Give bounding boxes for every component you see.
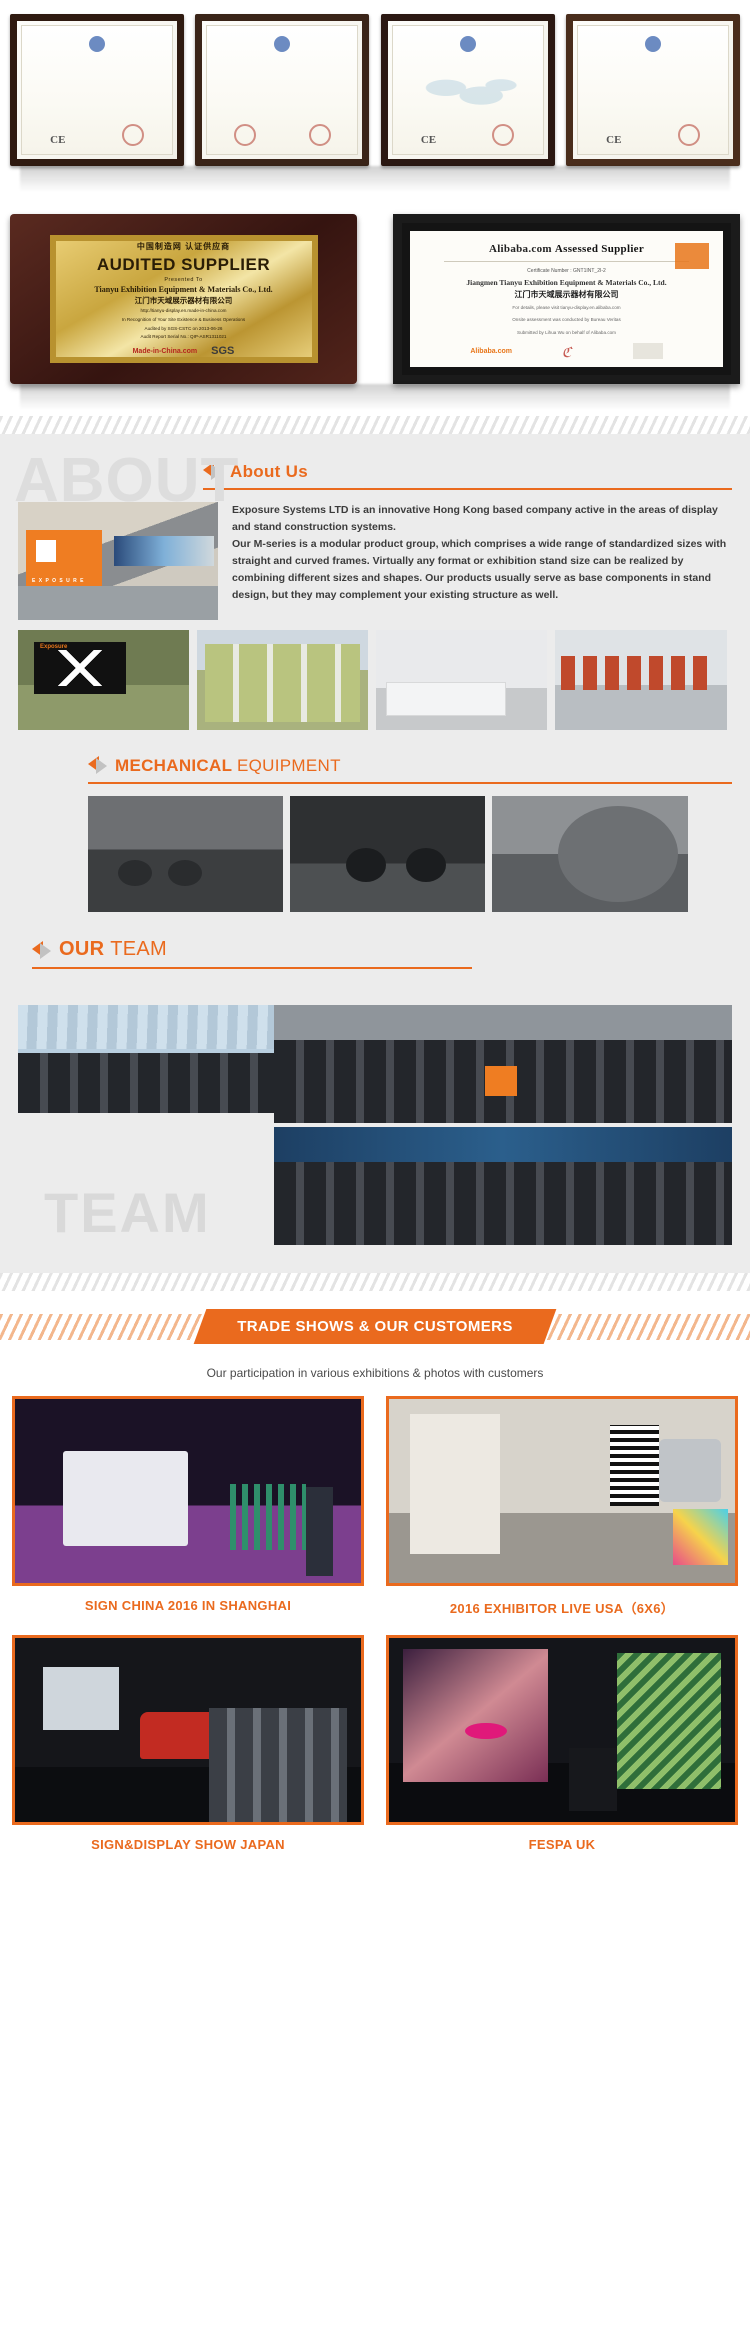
seal-icon bbox=[89, 36, 105, 52]
supplier-assessment-certificate bbox=[195, 14, 369, 166]
alibaba-logo: Alibaba.com bbox=[470, 348, 512, 355]
iso-certificate-2: CE bbox=[381, 14, 555, 166]
cnc-machine-photo-2 bbox=[290, 796, 485, 912]
plaque-title: AUDITED SUPPLIER bbox=[97, 255, 270, 275]
team-group-booth-photo bbox=[274, 1005, 732, 1123]
show-caption: SIGN&DISPLAY SHOW JAPAN bbox=[12, 1825, 364, 1856]
show-exhibitor-live-usa: 2016 EXHIBITOR LIVE USA（6X6） bbox=[386, 1396, 738, 1621]
plaque-company-en: Tianyu Exhibition Equipment & Materials … bbox=[94, 285, 272, 294]
team-right-column bbox=[274, 1005, 732, 1245]
mechanical-heading-bold: MECHANICAL bbox=[115, 756, 232, 775]
team-heading-rule bbox=[32, 967, 472, 969]
team-ghost-text: TEAM bbox=[44, 1180, 211, 1245]
exterior-banner-photo: Exposure bbox=[18, 630, 189, 730]
triangle-left-gray-icon bbox=[96, 758, 107, 774]
alibaba-submitted-line: Submitted by Lihua Wu on behalf of Aliba… bbox=[517, 329, 616, 337]
trade-shows-subtitle: Our participation in various exhibitions… bbox=[0, 1366, 750, 1380]
about-text-block: Exposure Systems LTD is an innovative Ho… bbox=[232, 502, 732, 620]
mechanical-heading: MECHANICAL EQUIPMENT bbox=[88, 730, 732, 776]
conference-room-photo bbox=[555, 630, 727, 730]
stamp-icon bbox=[309, 124, 331, 146]
mechanical-heading-rule bbox=[88, 782, 732, 784]
triangle-left-gray-icon bbox=[40, 943, 51, 959]
stamp-icon bbox=[122, 124, 144, 146]
plaque-chinese-top: 中国制造网 认证供应商 bbox=[137, 241, 230, 252]
certificate-row-bottom: 中国制造网 认证供应商 AUDITED SUPPLIER Presented T… bbox=[10, 214, 740, 384]
ce-mark-label: CE bbox=[421, 134, 436, 146]
world-map-graphic bbox=[413, 67, 523, 119]
trade-shows-ribbon-title: TRADE SHOWS & OUR CUSTOMERS bbox=[211, 1309, 539, 1344]
team-heading-light: TEAM bbox=[110, 938, 167, 960]
show-sign-china-2016: SIGN CHINA 2016 IN SHANGHAI bbox=[12, 1396, 364, 1621]
show-caption: 2016 EXHIBITOR LIVE USA（6X6） bbox=[386, 1586, 738, 1621]
about-paragraph-1: Exposure Systems LTD is an innovative Ho… bbox=[232, 502, 732, 536]
ce-mark-label: CE bbox=[50, 134, 65, 146]
alibaba-assessed-certificate: Alibaba.com Assessed Supplier Certificat… bbox=[393, 214, 740, 384]
iso-certificate-1: CE bbox=[10, 14, 184, 166]
show-photo bbox=[386, 1635, 738, 1825]
seal-icon bbox=[460, 36, 476, 52]
hatch-right bbox=[539, 1314, 750, 1340]
trade-shows-grid: SIGN CHINA 2016 IN SHANGHAI 2016 EXHIBIT… bbox=[0, 1396, 750, 1876]
alibaba-company-en: Jiangmen Tianyu Exhibition Equipment & M… bbox=[466, 278, 666, 287]
cutting-machine-photo bbox=[492, 796, 688, 912]
plaque-recognition-line: In Recognition of Your Site Existence & … bbox=[122, 317, 245, 324]
exposure-logo-label: E X P O S U R E bbox=[32, 578, 84, 584]
cnc-machine-photo-1 bbox=[88, 796, 283, 912]
about-paragraph-2: Our M-series is a modular product group,… bbox=[232, 536, 732, 604]
office-showroom-photo: E X P O S U R E bbox=[18, 502, 218, 620]
alibaba-title-a: Alibaba.com bbox=[489, 243, 555, 255]
alibaba-onsite-line: Onsite assessment was conducted by Burea… bbox=[512, 316, 621, 324]
about-body: E X P O S U R E Exposure Systems LTD is … bbox=[18, 502, 732, 620]
trade-shows-ribbon-row: TRADE SHOWS & OUR CUSTOMERS bbox=[0, 1309, 750, 1344]
about-section: ABOUT About Us E X P O S U R E Exposure … bbox=[0, 434, 750, 1273]
iso-certificate-3: CE bbox=[566, 14, 740, 166]
made-in-china-logo: Made-in-China.com bbox=[133, 348, 198, 355]
about-heading: About Us bbox=[203, 448, 732, 482]
about-photo-strip: Exposure bbox=[18, 630, 732, 730]
show-photo bbox=[12, 1635, 364, 1825]
office-cubicles-photo bbox=[197, 630, 368, 730]
reflection-shadow bbox=[20, 384, 730, 410]
certificates-section: CE bbox=[0, 0, 750, 416]
alibaba-cert-number: Certificate Number : GNT1INT_2I-2 bbox=[527, 268, 606, 274]
ce-mark-label: CE bbox=[606, 134, 621, 146]
supplier-assessment-badge bbox=[675, 243, 709, 269]
hatch-divider bbox=[0, 1273, 750, 1291]
show-photo bbox=[386, 1396, 738, 1586]
plaque-presented-to: Presented To bbox=[164, 277, 202, 283]
stamp-icon bbox=[678, 124, 700, 146]
plaque-report-line: Audit Report Serial No.: QIP-ASR1311021 bbox=[141, 334, 227, 341]
team-heading-bold: OUR bbox=[59, 938, 104, 960]
reflection-shadow bbox=[20, 166, 730, 192]
certificate-row-top: CE bbox=[10, 14, 740, 166]
show-photo bbox=[12, 1396, 364, 1586]
stamp-icon bbox=[234, 124, 256, 146]
meeting-room-photo bbox=[376, 630, 547, 730]
about-heading-label: About Us bbox=[230, 462, 308, 482]
mechanical-heading-light: EQUIPMENT bbox=[237, 756, 341, 775]
audited-supplier-plaque: 中国制造网 认证供应商 AUDITED SUPPLIER Presented T… bbox=[10, 214, 357, 384]
alibaba-title-b: Assessed Supplier bbox=[555, 243, 644, 255]
hatch-divider bbox=[0, 416, 750, 434]
hatch-left bbox=[0, 1314, 211, 1340]
team-heading: OUR TEAM bbox=[32, 912, 732, 961]
trade-shows-section: TRADE SHOWS & OUR CUSTOMERS Our particip… bbox=[0, 1291, 750, 1876]
team-heading-label: OUR TEAM bbox=[59, 938, 167, 961]
alibaba-company-cn: 江门市天域展示器材有限公司 bbox=[515, 289, 619, 300]
team-photo-area: TEAM bbox=[18, 1005, 732, 1247]
stamp-icon bbox=[492, 124, 514, 146]
seal-icon bbox=[645, 36, 661, 52]
sgs-logo: SGS bbox=[211, 345, 234, 357]
mechanical-heading-label: MECHANICAL EQUIPMENT bbox=[115, 756, 341, 776]
plaque-url: http://tianyu-display.en.made-in-china.c… bbox=[141, 308, 227, 315]
team-group-outdoor-photo bbox=[18, 1005, 280, 1113]
show-caption: FESPA UK bbox=[386, 1825, 738, 1856]
show-sign-display-japan: SIGN&DISPLAY SHOW JAPAN bbox=[12, 1635, 364, 1856]
product-detail-page: CE bbox=[0, 0, 750, 1876]
mechanical-photo-strip bbox=[88, 796, 732, 912]
plaque-audited-line: Audited by SGS-CSTC on 2013-06-26 bbox=[145, 326, 223, 333]
show-caption: SIGN CHINA 2016 IN SHANGHAI bbox=[12, 1586, 364, 1617]
assessment-badge-icon bbox=[633, 343, 663, 359]
alibaba-detail-line: For details, please visit tianyu-display… bbox=[512, 304, 620, 312]
about-heading-rule bbox=[203, 488, 732, 490]
show-fespa-uk: FESPA UK bbox=[386, 1635, 738, 1856]
plaque-company-cn: 江门市天域展示器材有限公司 bbox=[135, 295, 233, 306]
team-group-exhibition-photo bbox=[274, 1127, 732, 1245]
